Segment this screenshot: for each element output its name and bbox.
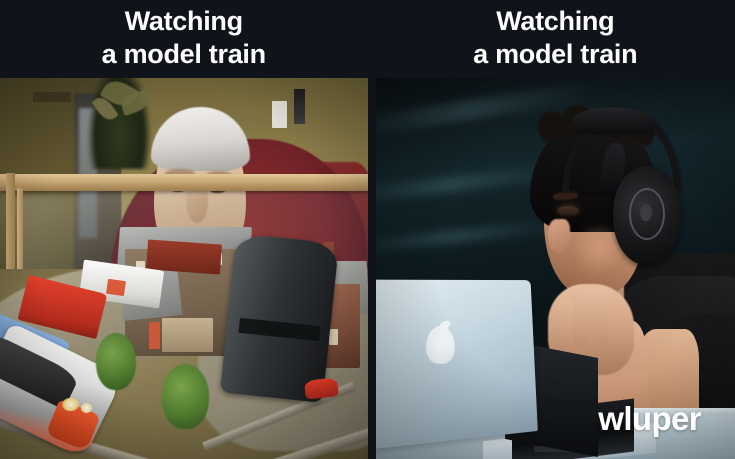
caption-left: Watching a model train: [0, 0, 368, 78]
caption-right-line1: Watching: [496, 5, 614, 38]
wluper-logo: wluper: [598, 402, 701, 435]
meme-panel-right: Watching a model train: [368, 0, 735, 459]
caption-right: Watching a model train: [376, 0, 735, 78]
caption-right-line2: a model train: [473, 38, 637, 71]
meme-image: Watching a model train: [0, 0, 735, 459]
caption-left-line2: a model train: [102, 38, 266, 71]
caption-left-line1: Watching: [125, 5, 243, 38]
photo-vignette: [0, 78, 368, 459]
photo-left-model-train: [0, 78, 368, 459]
train-scene: [0, 78, 368, 459]
photo-right-man-at-laptop: wluper: [376, 78, 735, 459]
meme-panel-left: Watching a model train: [0, 0, 368, 459]
